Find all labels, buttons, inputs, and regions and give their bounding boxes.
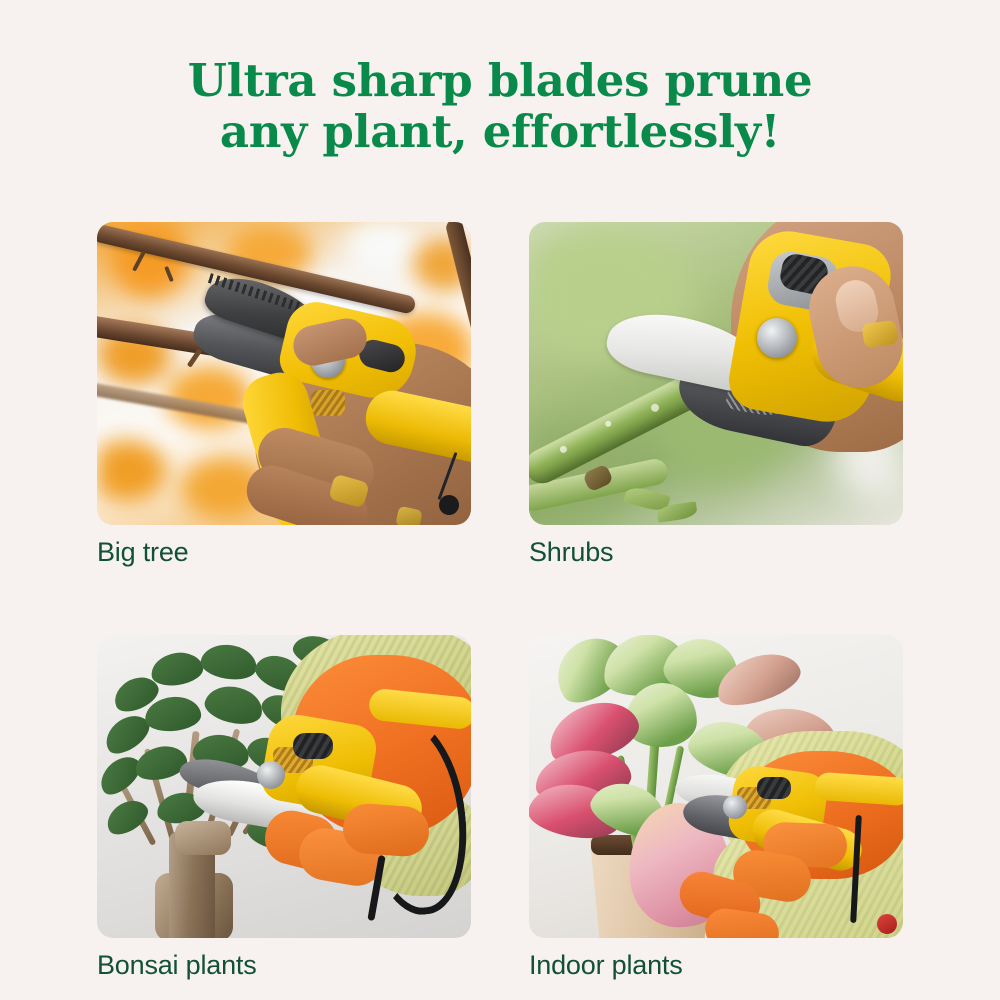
shear-pivot-bolt [723,795,747,819]
page-headline: Ultra sharp blades prune any plant, effo… [0,55,1000,157]
bonsai-leaf [202,681,267,730]
water-droplet [559,445,568,454]
caption-indoor-plants: Indoor plants [529,949,903,981]
photo-shrubs[interactable] [529,222,903,525]
shear-safety-latch [757,777,791,799]
shear-pivot-bolt [257,761,285,789]
feature-cell-shrubs: Shrubs [529,222,903,568]
caption-bonsai-plants: Bonsai plants [97,949,471,981]
feature-grid: Big tree [97,222,903,981]
shear-safety-latch [293,733,333,759]
infographic-page: Ultra sharp blades prune any plant, effo… [0,0,1000,1000]
feature-cell-bonsai: Bonsai plants [97,635,471,981]
lanyard-knob [439,495,459,515]
water-droplet [650,402,661,413]
gold-ring [861,320,898,348]
caption-big-tree: Big tree [97,536,471,568]
caption-shrubs: Shrubs [529,536,903,568]
feature-row-top: Big tree [97,222,903,568]
photo-big-tree[interactable] [97,222,471,525]
feature-cell-big-tree: Big tree [97,222,471,568]
bonsai-leaf [149,650,205,689]
red-glove-tag [877,914,897,934]
bonsai-leaf [198,640,259,683]
feature-row-bottom: Bonsai plants [97,635,903,981]
bonsai-cut-stub [175,821,231,855]
water-droplet [604,420,612,428]
feature-cell-indoor: Indoor plants [529,635,903,981]
shear-pivot-bolt [757,318,797,358]
photo-bonsai-plants[interactable] [97,635,471,938]
photo-indoor-plants[interactable] [529,635,903,938]
shear-spring [311,390,345,416]
